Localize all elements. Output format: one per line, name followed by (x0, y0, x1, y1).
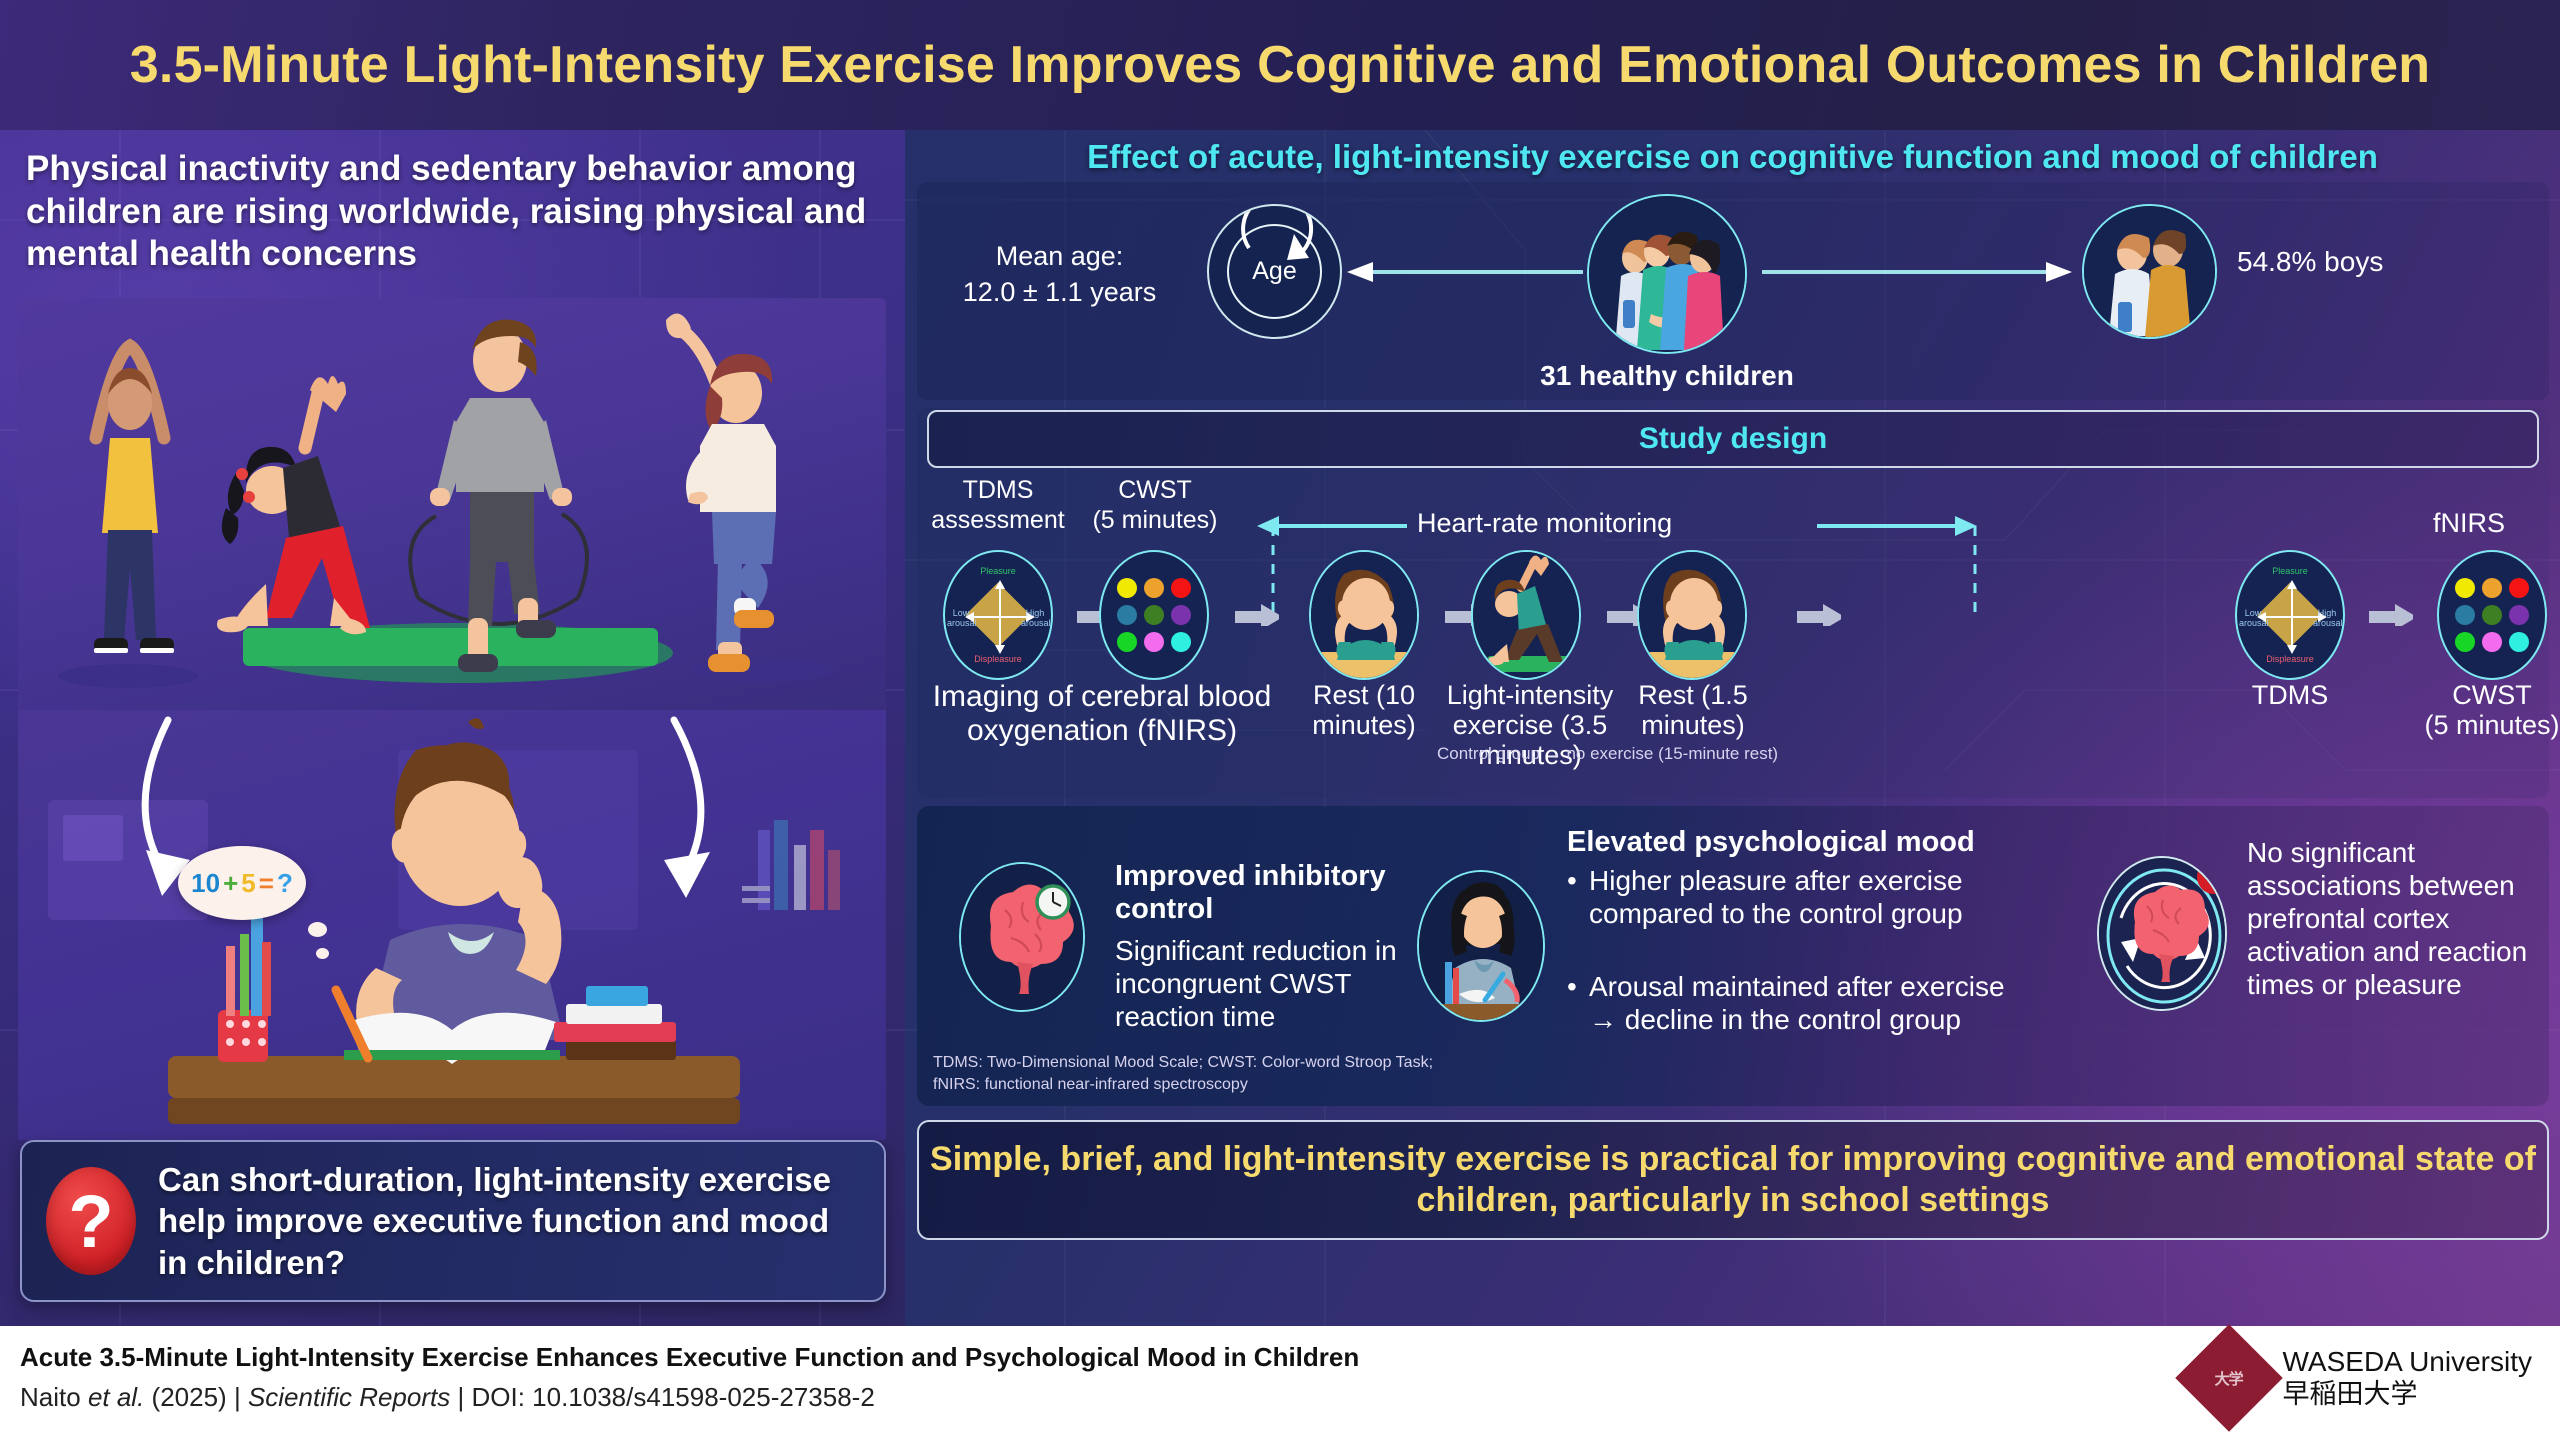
tdms-label-low-arousal: Low arousal (947, 608, 975, 628)
cwst-dot-1 (1117, 578, 1137, 598)
flow-arrow-6-icon (2369, 604, 2413, 626)
step-caption-cwst-top: CWST (5 minutes) (1075, 476, 1235, 535)
cross-x-icon: ✕ (2197, 860, 2227, 894)
bubble-num-b: 5 (241, 868, 255, 899)
infographic-root: 3.5-Minute Light-Intensity Exercise Impr… (0, 0, 2560, 1440)
tdms2-label-low-arousal: Low arousal (2239, 608, 2267, 628)
boys-percentage-label: 54.8% boys (2237, 246, 2383, 278)
step-caption-rest-15: Rest (1.5 minutes) (1605, 680, 1781, 740)
question-mark-icon: ? (46, 1167, 136, 1275)
result-2-bullet-2: • Arousal maintained after exercise → de… (1567, 970, 2037, 1036)
result-2-bullet-2-text: Arousal maintained after exercise → decl… (1567, 970, 2037, 1036)
citation-author: Naito (20, 1382, 81, 1412)
cwst-dot-3 (1171, 578, 1191, 598)
brain-no-association-circle: ✕ (2097, 856, 2227, 1011)
age-circle: Age (1207, 204, 1342, 339)
cwst-color-grid-2 (2455, 578, 2529, 652)
cwst2-dot-5 (2482, 605, 2502, 625)
thought-bubble-dot-small (316, 948, 329, 959)
cwst2-dot-1 (2455, 578, 2475, 598)
bubble-num-a: 10 (191, 868, 220, 899)
cwst2-dot-9 (2509, 632, 2529, 652)
sample-size-label: 31 healthy children (1487, 360, 1847, 392)
heart-rate-monitoring-label: Heart-rate monitoring (1417, 508, 1672, 539)
step-caption-tdms-2: TDMS (2215, 680, 2365, 710)
thought-bubble: 10+5=? (178, 846, 306, 920)
paper-title: Acute 3.5-Minute Light-Intensity Exercis… (20, 1342, 1359, 1373)
cwst-dot-6 (1171, 605, 1191, 625)
page-title: 3.5-Minute Light-Intensity Exercise Impr… (130, 39, 2430, 91)
tdms-diamond-icon-2: Pleasure Displeasure Low arousal High ar… (2235, 550, 2345, 680)
mean-age-block: Mean age: 12.0 ± 1.1 years (952, 238, 1167, 311)
bubble-plus: + (223, 868, 238, 899)
fnirs-caption: Imaging of cerebral blood oxygenation (f… (907, 680, 1297, 748)
age-circle-label: Age (1209, 206, 1340, 337)
citation-separator-2: | (457, 1382, 464, 1412)
design-step-cwst-2 (2417, 550, 2560, 680)
result-1-heading: Improved inhibitory control (1115, 860, 1405, 927)
waseda-logo-text: WASEDA University 早稲田大学 (2283, 1346, 2532, 1411)
title-bar: 3.5-Minute Light-Intensity Exercise Impr… (0, 0, 2560, 130)
design-step-rest-15 (1617, 550, 1767, 680)
conclusion-banner: Simple, brief, and light-intensity exerc… (917, 1120, 2549, 1240)
bubble-question: ? (277, 868, 293, 899)
result-1-body: Significant reduction in incongruent CWS… (1115, 934, 1425, 1033)
tdms-label-displeasure: Displeasure (945, 654, 1051, 664)
tdms2-label-displeasure: Displeasure (2237, 654, 2343, 664)
result-2-bullet-1-text: Higher pleasure after exercise compared … (1567, 864, 2037, 930)
design-step-light-exercise (1451, 550, 1601, 680)
child-resting-icon-1 (1309, 550, 1419, 680)
girl-studying-circle (1417, 870, 1545, 1022)
waseda-diamond-icon: 大学 (2175, 1324, 2282, 1431)
tdms-diamond-icon: Pleasure Displeasure Low arousal High ar… (943, 550, 1053, 680)
citation-etal: et al. (88, 1382, 144, 1412)
tdms-label-high-arousal: High arousal (1021, 608, 1049, 628)
design-step-rest-10 (1289, 550, 1439, 680)
arrow-to-boys-icon (1762, 262, 2072, 282)
child-stretching-icon (1471, 550, 1581, 680)
left-column: Physical inactivity and sedentary behavi… (0, 130, 905, 1326)
thought-bubble-dot-large (308, 922, 327, 937)
cwst2-dot-3 (2509, 578, 2529, 598)
cwst-dot-2 (1144, 578, 1164, 598)
flow-arrow-5-icon (1797, 604, 1841, 626)
cwst2-dot-2 (2482, 578, 2502, 598)
cwst-dot-8 (1144, 632, 1164, 652)
citation-line: Naito et al. (2025) | Scientific Reports… (20, 1382, 875, 1413)
arrow-to-age-icon (1347, 262, 1583, 282)
boys-circle (2082, 204, 2217, 339)
bullet-dot-2: • (1567, 970, 1577, 1003)
brain-clock-circle (959, 862, 1085, 1012)
cwst-color-grid (1117, 578, 1191, 652)
waseda-mark-text: 大学 (2215, 1367, 2243, 1388)
cwst-colors-icon (1099, 550, 1209, 680)
results-panel: Improved inhibitory control Significant … (917, 806, 2549, 1106)
right-column: Effect of acute, light-intensity exercis… (905, 130, 2560, 1326)
cwst-colors-icon-2 (2437, 550, 2547, 680)
cwst-dot-7 (1117, 632, 1137, 652)
study-design-title: Study design (1639, 422, 1827, 456)
citation-journal: Scientific Reports (248, 1382, 450, 1412)
bubble-equals: = (259, 868, 274, 899)
waseda-name-en: WASEDA University (2283, 1346, 2532, 1378)
tdms2-label-pleasure: Pleasure (2237, 566, 2343, 576)
citation-year: (2025) (152, 1382, 227, 1412)
design-step-tdms-2: Pleasure Displeasure Low arousal High ar… (2215, 550, 2365, 680)
waseda-name-jp: 早稲田大学 (2283, 1378, 2532, 1410)
child-resting-icon-2 (1637, 550, 1747, 680)
cwst-dot-9 (1171, 632, 1191, 652)
design-step-tdms-1: Pleasure Displeasure Low arousal High ar… (923, 550, 1073, 680)
footer-bar: Acute 3.5-Minute Light-Intensity Exercis… (0, 1326, 2560, 1440)
conclusion-text: Simple, brief, and light-intensity exerc… (919, 1139, 2547, 1222)
result-3-body: No significant associations between pref… (2247, 836, 2529, 1001)
step-caption-cwst-2: CWST (5 minutes) (2397, 680, 2560, 740)
result-2-bullet-1: • Higher pleasure after exercise compare… (1567, 864, 2037, 930)
cwst-dot-5 (1144, 605, 1164, 625)
design-step-cwst-1 (1079, 550, 1229, 680)
cwst-dot-4 (1117, 605, 1137, 625)
cwst2-dot-4 (2455, 605, 2475, 625)
mean-age-value: 12.0 ± 1.1 years (952, 274, 1167, 310)
mean-age-label: Mean age: (952, 238, 1167, 274)
abbreviations-note: TDMS: Two-Dimensional Mood Scale; CWST: … (933, 1052, 1433, 1095)
research-question-box: ? Can short-duration, light-intensity ex… (20, 1140, 886, 1302)
control-group-note: Control group → no exercise (15-minute r… (1437, 744, 1778, 764)
cwst2-dot-7 (2455, 632, 2475, 652)
fnirs-label: fNIRS (2433, 508, 2505, 539)
step-caption-tdms-assessment: TDMS assessment (923, 476, 1073, 535)
participants-panel: Mean age: 12.0 ± 1.1 years Age (917, 182, 2549, 400)
citation-doi: DOI: 10.1038/s41598-025-27358-2 (471, 1382, 874, 1412)
bullet-dot-1: • (1567, 864, 1577, 897)
tdms2-label-high-arousal: High arousal (2313, 608, 2341, 628)
right-section-heading: Effect of acute, light-intensity exercis… (905, 138, 2560, 176)
tdms-label-pleasure: Pleasure (945, 566, 1051, 576)
study-design-panel: Study design TDMS assessment CWST (5 min… (917, 408, 2549, 798)
lead-statement: Physical inactivity and sedentary behavi… (26, 148, 886, 276)
research-question-text: Can short-duration, light-intensity exer… (158, 1159, 860, 1283)
cwst2-dot-8 (2482, 632, 2502, 652)
cwst2-dot-6 (2509, 605, 2529, 625)
step-caption-rest-10: Rest (10 minutes) (1285, 680, 1443, 740)
result-2-heading: Elevated psychological mood (1567, 826, 2027, 859)
waseda-logo: 大学 WASEDA University 早稲田大学 (2191, 1340, 2532, 1416)
citation-separator-1: | (234, 1382, 241, 1412)
flow-arrow-2-icon (1235, 604, 1279, 626)
exercising-children-illustration (18, 298, 886, 723)
boy-studying-illustration (18, 710, 886, 1140)
children-group-circle (1587, 194, 1747, 354)
study-design-title-box: Study design (927, 410, 2539, 468)
